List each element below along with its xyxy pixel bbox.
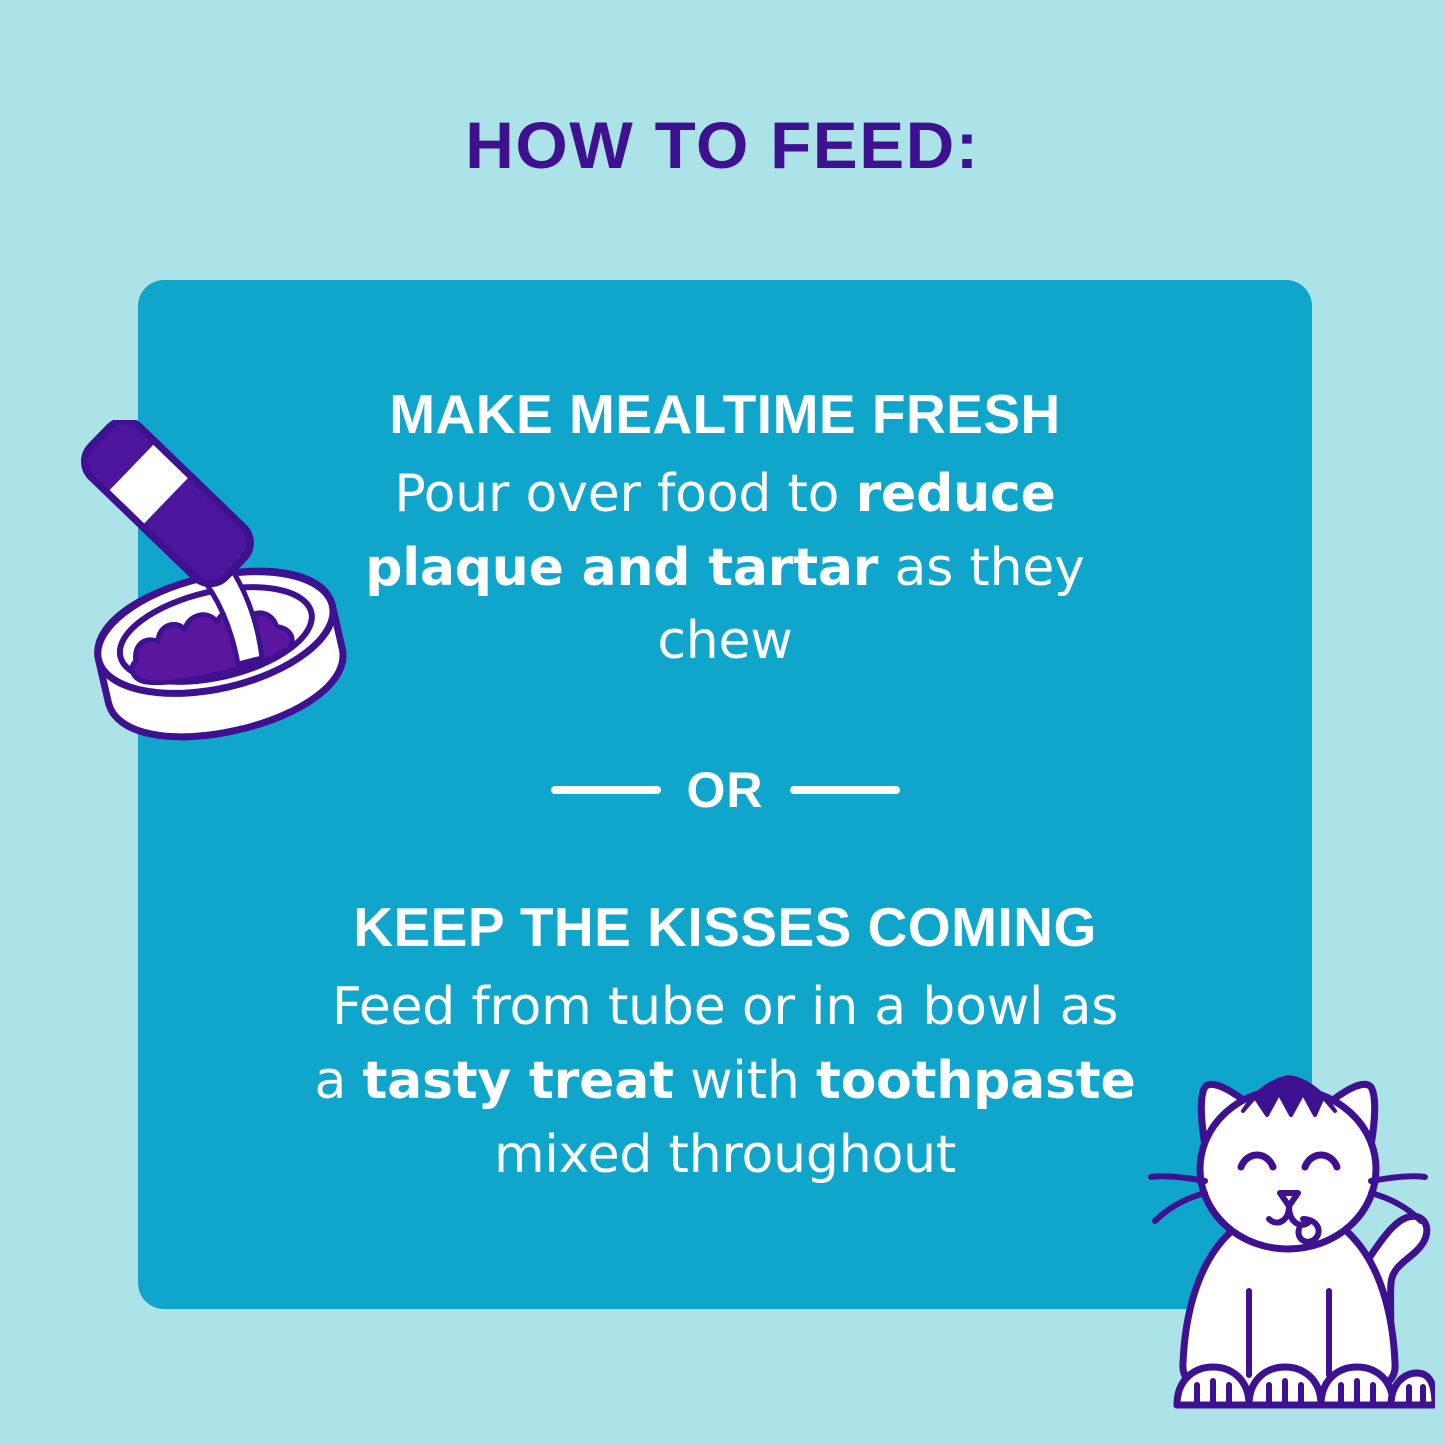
body-text-plain: with [674,1051,816,1111]
section-body: Feed from tube or in a bowl as a tasty t… [310,971,1140,1192]
body-text-bold: tasty treat [362,1051,673,1111]
body-text-plain: mixed throughout [494,1125,956,1185]
body-text-bold: toothpaste [816,1051,1136,1111]
instructions-card: MAKE MEALTIME FRESH Pour over food to re… [138,280,1312,1309]
page-title: HOW TO FEED: [0,112,1445,178]
divider-rule-left [551,786,661,794]
section-body: Pour over food to reduce plaque and tart… [310,458,1140,679]
or-divider: OR [551,765,900,815]
section-heading: MAKE MEALTIME FRESH [310,386,1140,444]
body-text-plain: Pour over food to [394,464,855,524]
divider-rule-right [790,786,900,794]
poster-canvas: HOW TO FEED: MAKE MEALTIME FRESH Pour ov… [0,0,1445,1445]
card-content: MAKE MEALTIME FRESH Pour over food to re… [138,280,1312,1309]
section-keep-the-kisses-coming: KEEP THE KISSES COMING Feed from tube or… [310,899,1140,1192]
section-heading: KEEP THE KISSES COMING [310,899,1140,957]
section-make-mealtime-fresh: MAKE MEALTIME FRESH Pour over food to re… [310,386,1140,679]
divider-label: OR [687,765,764,815]
